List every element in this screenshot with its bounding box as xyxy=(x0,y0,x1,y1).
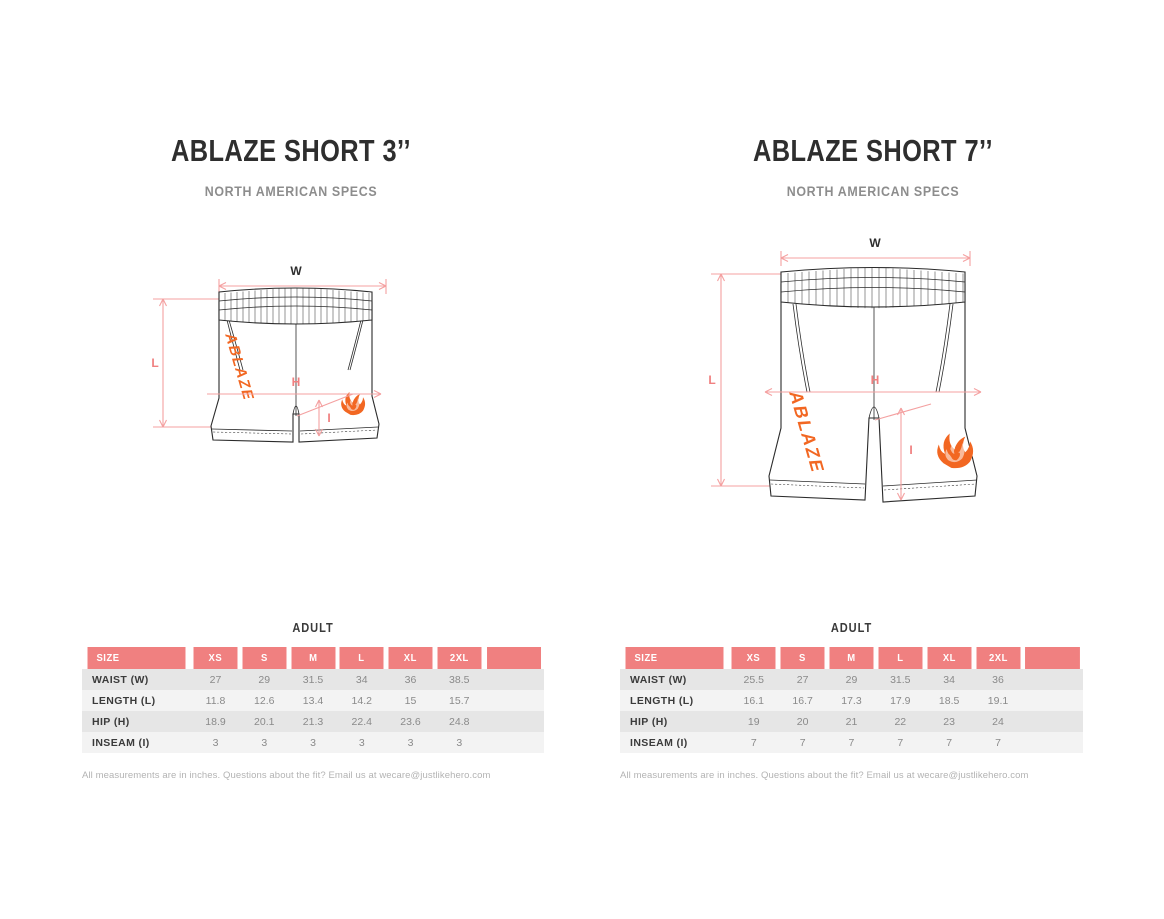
cell-hip-s: 20.1 xyxy=(240,711,289,732)
table-row-waist: WAIST (W) 27 29 31.5 34 36 38.5 xyxy=(82,669,544,690)
page-subtitle-right: NORTH AMERICAN SPECS xyxy=(605,184,1140,199)
dimension-width-short7: W xyxy=(781,236,970,266)
cell-length-l: 17.9 xyxy=(876,690,925,711)
cell-hip-xl: 23.6 xyxy=(386,711,435,732)
column-header-l: L xyxy=(340,647,384,669)
cell-waist-spacer xyxy=(1022,669,1083,690)
width-label-short7: W xyxy=(869,236,881,250)
cell-inseam-xs: 7 xyxy=(729,732,778,753)
cell-waist-l: 31.5 xyxy=(876,669,925,690)
garment-diagram-short3: W L xyxy=(0,248,582,548)
panel-ablaze-short-3: ABLAZE SHORT 3’’ NORTH AMERICAN SPECS W xyxy=(0,0,582,919)
column-header-s: S xyxy=(781,647,825,669)
hip-label-short3: H xyxy=(292,375,301,389)
cell-length-xs: 11.8 xyxy=(191,690,240,711)
cell-hip-l: 22.4 xyxy=(337,711,386,732)
length-label-short7: L xyxy=(708,373,715,387)
cell-inseam-xl: 3 xyxy=(386,732,435,753)
column-header-xs: XS xyxy=(194,647,238,669)
title-block-right: ABLAZE SHORT 7’’ NORTH AMERICAN SPECS xyxy=(582,134,1164,199)
size-guide-page: ABLAZE SHORT 3’’ NORTH AMERICAN SPECS W xyxy=(0,0,1164,919)
page-subtitle-left: NORTH AMERICAN SPECS xyxy=(23,184,558,199)
cell-waist-spacer xyxy=(484,669,544,690)
table-row-hip: HIP (H) 19 20 21 22 23 24 xyxy=(620,711,1083,732)
waistband-short3 xyxy=(219,288,372,324)
cell-inseam-xs: 3 xyxy=(191,732,240,753)
column-header-s: S xyxy=(242,647,286,669)
cell-waist-xl: 36 xyxy=(386,669,435,690)
cell-hip-xs: 18.9 xyxy=(191,711,240,732)
cell-length-m: 17.3 xyxy=(827,690,876,711)
row-label-waist: WAIST (W) xyxy=(82,669,191,690)
cell-inseam-s: 7 xyxy=(778,732,827,753)
length-label-short3: L xyxy=(151,356,158,370)
column-header-l: L xyxy=(878,647,922,669)
cell-hip-l: 22 xyxy=(876,711,925,732)
cell-length-s: 16.7 xyxy=(778,690,827,711)
table-caption-short3: ADULT xyxy=(117,620,510,635)
row-label-length: LENGTH (L) xyxy=(82,690,191,711)
table-caption-short7: ADULT xyxy=(655,620,1049,635)
cell-length-spacer xyxy=(484,690,544,711)
cell-waist-s: 27 xyxy=(778,669,827,690)
cell-waist-2xl: 36 xyxy=(974,669,1023,690)
column-header-spacer xyxy=(1025,647,1080,669)
cell-waist-l: 34 xyxy=(337,669,386,690)
inseam-label-short7: I xyxy=(909,443,912,457)
cell-waist-xs: 25.5 xyxy=(729,669,778,690)
cell-hip-m: 21 xyxy=(827,711,876,732)
cell-inseam-m: 7 xyxy=(827,732,876,753)
column-header-size: SIZE xyxy=(625,647,723,669)
short7-technical-drawing: W L xyxy=(693,232,1053,532)
cell-waist-s: 29 xyxy=(240,669,289,690)
table-footnote-short3: All measurements are in inches. Question… xyxy=(82,770,544,781)
table-row-waist: WAIST (W) 25.5 27 29 31.5 34 36 xyxy=(620,669,1083,690)
width-label-short3: W xyxy=(290,264,302,278)
hip-label-short7: H xyxy=(871,373,880,387)
cell-hip-xl: 23 xyxy=(925,711,974,732)
table-row-inseam: INSEAM (I) 3 3 3 3 3 3 xyxy=(82,732,544,753)
column-header-m: M xyxy=(291,647,335,669)
column-header-2xl: 2XL xyxy=(976,647,1020,669)
cell-length-xl: 18.5 xyxy=(925,690,974,711)
cell-inseam-l: 7 xyxy=(876,732,925,753)
column-header-xl: XL xyxy=(389,647,433,669)
cell-hip-2xl: 24.8 xyxy=(435,711,484,732)
cell-hip-2xl: 24 xyxy=(974,711,1023,732)
row-label-length: LENGTH (L) xyxy=(620,690,729,711)
row-label-inseam: INSEAM (I) xyxy=(82,732,191,753)
cell-inseam-spacer xyxy=(484,732,544,753)
cell-length-m: 13.4 xyxy=(289,690,338,711)
waistband-short7 xyxy=(781,268,965,309)
cell-inseam-2xl: 3 xyxy=(435,732,484,753)
page-title-left: ABLAZE SHORT 3’’ xyxy=(52,134,529,168)
cell-inseam-m: 3 xyxy=(289,732,338,753)
cell-hip-spacer xyxy=(484,711,544,732)
cell-hip-spacer xyxy=(1022,711,1083,732)
page-title-right: ABLAZE SHORT 7’’ xyxy=(634,134,1111,168)
cell-hip-s: 20 xyxy=(778,711,827,732)
column-header-xs: XS xyxy=(732,647,776,669)
cell-waist-xl: 34 xyxy=(925,669,974,690)
size-table-section-short7: ADULT SIZE XS S M L XL 2XL xyxy=(620,620,1083,781)
row-label-inseam: INSEAM (I) xyxy=(620,732,729,753)
short3-technical-drawing: W L xyxy=(141,248,441,488)
cell-length-xl: 15 xyxy=(386,690,435,711)
cell-length-spacer xyxy=(1022,690,1083,711)
cell-inseam-l: 3 xyxy=(337,732,386,753)
cell-inseam-2xl: 7 xyxy=(974,732,1023,753)
title-block-left: ABLAZE SHORT 3’’ NORTH AMERICAN SPECS xyxy=(0,134,582,199)
size-table-short7: SIZE XS S M L XL 2XL WAIST (W) 25.5 27 xyxy=(620,647,1083,753)
cell-hip-m: 21.3 xyxy=(289,711,338,732)
column-header-2xl: 2XL xyxy=(437,647,481,669)
cell-waist-2xl: 38.5 xyxy=(435,669,484,690)
table-footnote-short7: All measurements are in inches. Question… xyxy=(620,770,1083,781)
cell-length-2xl: 15.7 xyxy=(435,690,484,711)
garment-diagram-short7: W L xyxy=(582,232,1164,552)
cell-length-l: 14.2 xyxy=(337,690,386,711)
row-label-hip: HIP (H) xyxy=(82,711,191,732)
table-row-hip: HIP (H) 18.9 20.1 21.3 22.4 23.6 24.8 xyxy=(82,711,544,732)
column-header-size: SIZE xyxy=(87,647,185,669)
cell-length-s: 12.6 xyxy=(240,690,289,711)
cell-length-xs: 16.1 xyxy=(729,690,778,711)
column-header-spacer xyxy=(487,647,541,669)
cell-waist-m: 29 xyxy=(827,669,876,690)
table-header-row: SIZE XS S M L XL 2XL xyxy=(620,647,1083,669)
table-row-length: LENGTH (L) 16.1 16.7 17.3 17.9 18.5 19.1 xyxy=(620,690,1083,711)
cell-waist-m: 31.5 xyxy=(289,669,338,690)
size-table-section-short3: ADULT SIZE XS S M L XL 2XL xyxy=(82,620,544,781)
table-row-length: LENGTH (L) 11.8 12.6 13.4 14.2 15 15.7 xyxy=(82,690,544,711)
cell-inseam-xl: 7 xyxy=(925,732,974,753)
row-label-waist: WAIST (W) xyxy=(620,669,729,690)
table-header-row: SIZE XS S M L XL 2XL xyxy=(82,647,544,669)
table-row-inseam: INSEAM (I) 7 7 7 7 7 7 xyxy=(620,732,1083,753)
column-header-xl: XL xyxy=(927,647,971,669)
cell-length-2xl: 19.1 xyxy=(974,690,1023,711)
column-header-m: M xyxy=(829,647,873,669)
cell-hip-xs: 19 xyxy=(729,711,778,732)
cell-inseam-spacer xyxy=(1022,732,1083,753)
inseam-label-short3: I xyxy=(327,411,330,425)
cell-inseam-s: 3 xyxy=(240,732,289,753)
panel-ablaze-short-7: ABLAZE SHORT 7’’ NORTH AMERICAN SPECS W xyxy=(582,0,1164,919)
size-table-short3: SIZE XS S M L XL 2XL WAIST (W) 27 29 xyxy=(82,647,544,753)
row-label-hip: HIP (H) xyxy=(620,711,729,732)
cell-waist-xs: 27 xyxy=(191,669,240,690)
